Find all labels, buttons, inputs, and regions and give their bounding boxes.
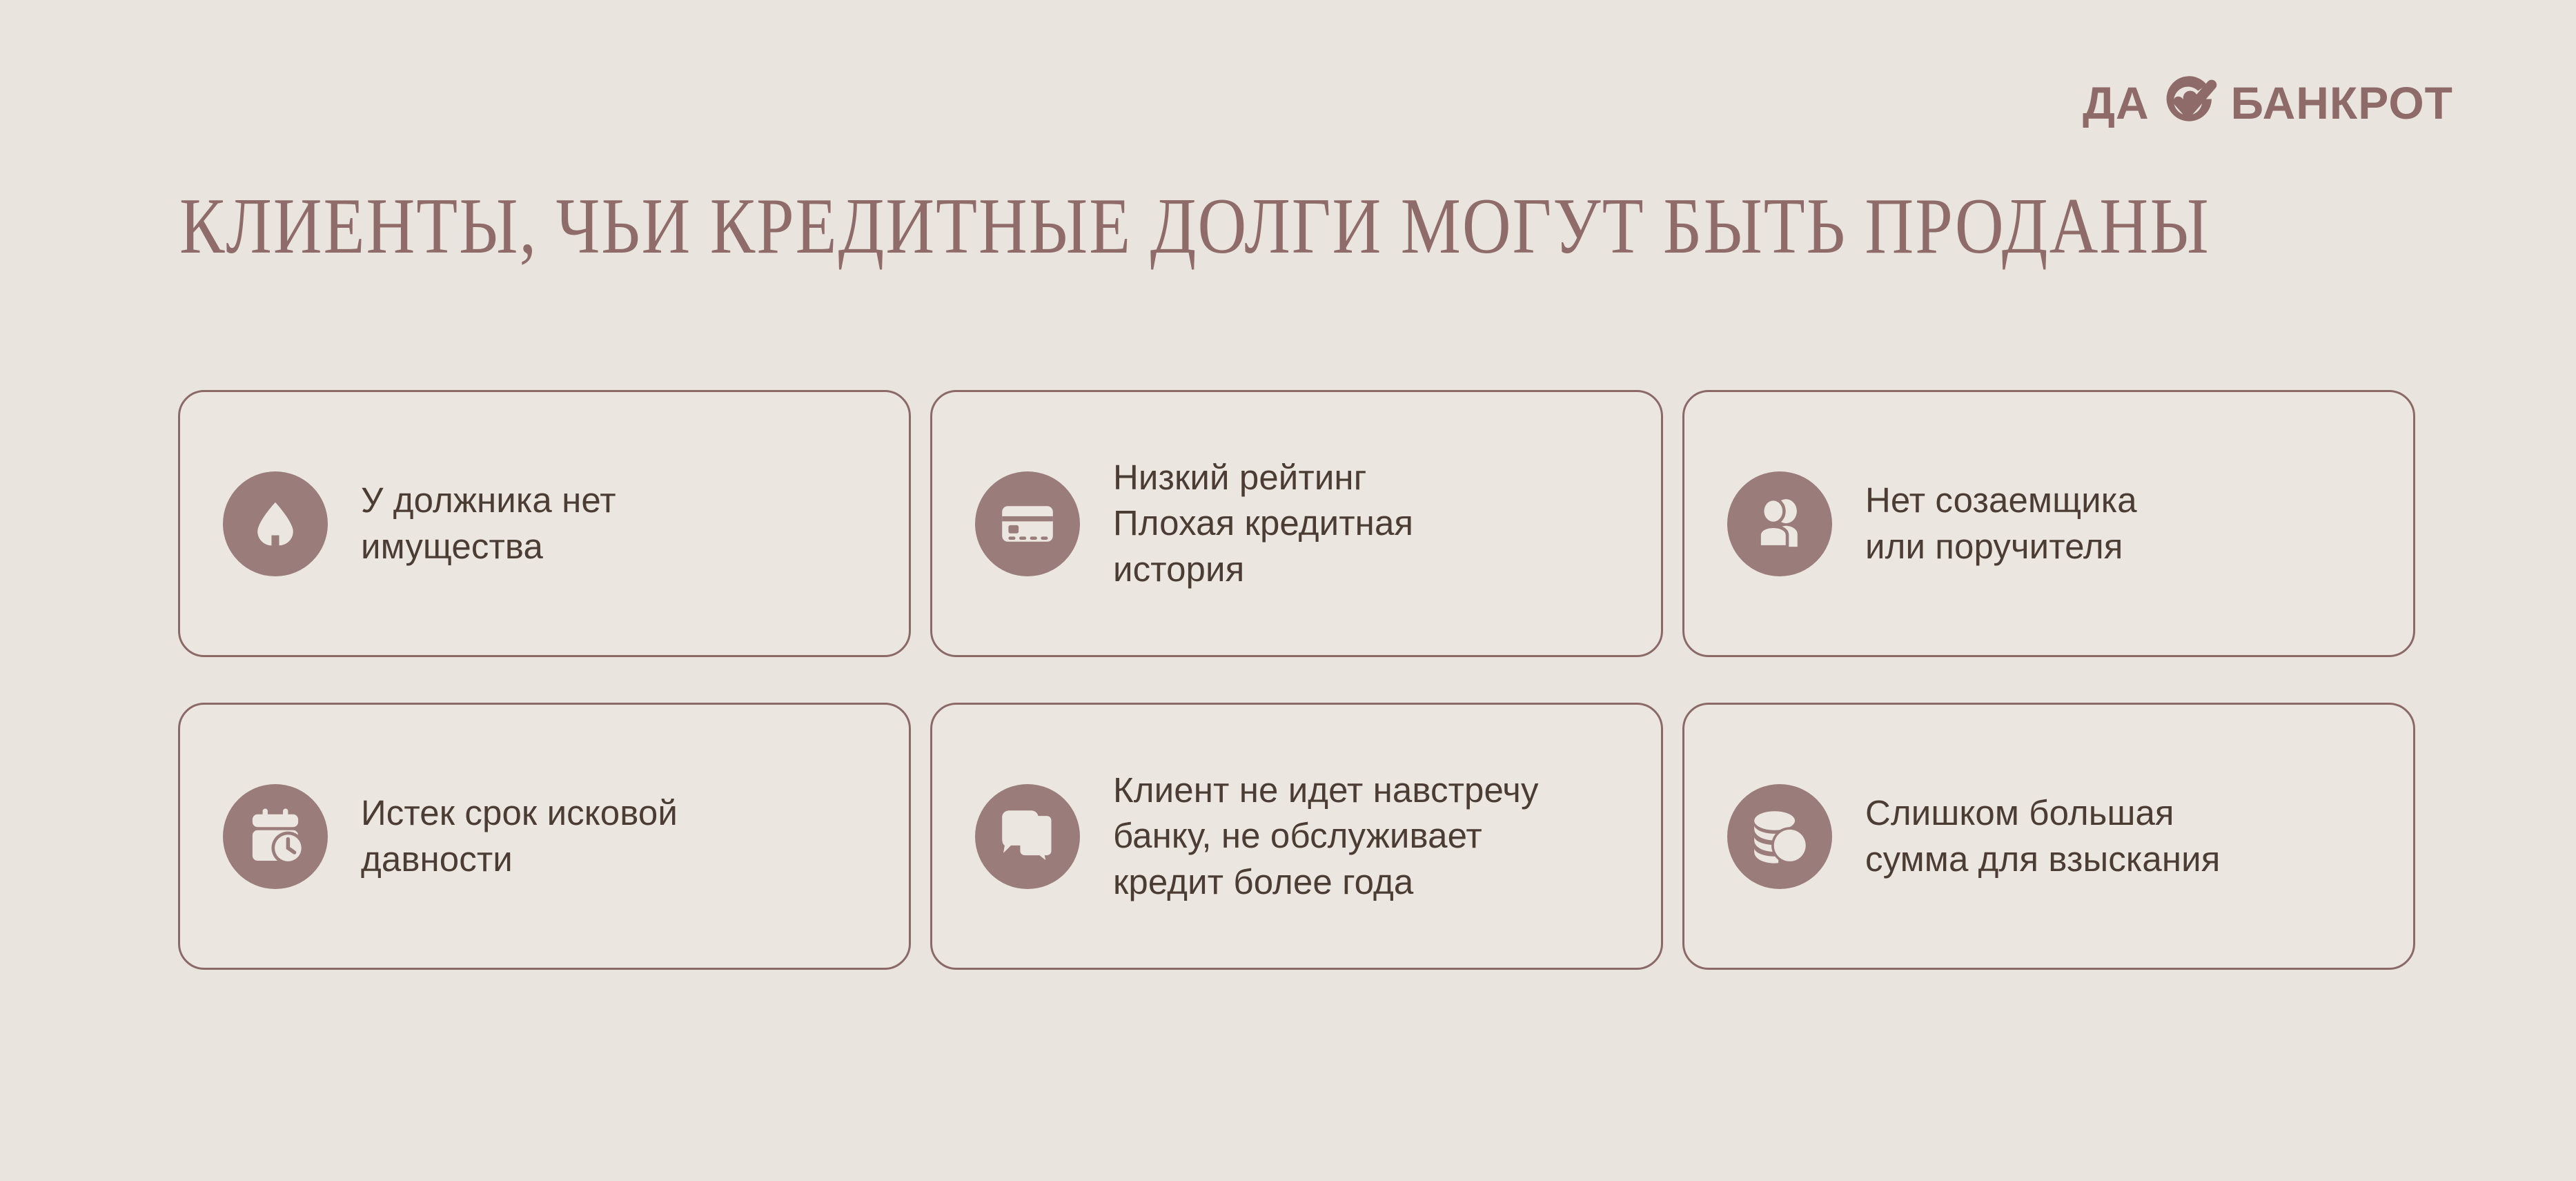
logo-word-right: БАНКРОТ — [2231, 80, 2453, 126]
slide-canvas: ДА БАНКРОТ КЛИЕНТЫ, ЧЬИ КРЕДИТНЫЕ ДОЛГИ … — [0, 0, 2576, 1181]
card-text: Слишком большая сумма для взыскания — [1865, 790, 2220, 882]
card-amount-too-large[interactable]: Слишком большая сумма для взыскания — [1682, 703, 2415, 970]
logo-word-left: ДА — [2083, 80, 2150, 126]
calendar-clock-icon — [223, 784, 328, 889]
card-statute-expired[interactable]: Истек срок исковой давности — [178, 703, 911, 970]
brand-logo: ДА БАНКРОТ — [2083, 75, 2453, 131]
card-low-rating[interactable]: Низкий рейтинг Плохая кредитная история — [930, 390, 1663, 657]
card-no-coborrower[interactable]: Нет созаемщика или поручителя — [1682, 390, 2415, 657]
card-no-property[interactable]: У должника нет имущества — [178, 390, 911, 657]
chat-bubbles-icon — [975, 784, 1080, 889]
card-text: У должника нет имущества — [361, 478, 616, 569]
coins-icon — [1727, 784, 1832, 889]
check-circle-icon — [2161, 72, 2220, 135]
cards-grid: У должника нет имущества Низкий рейтинг … — [178, 390, 2490, 970]
credit-card-icon — [975, 471, 1080, 576]
users-icon — [1727, 471, 1832, 576]
card-text: Нет созаемщика или поручителя — [1865, 478, 2137, 569]
card-text: Истек срок исковой давности — [361, 790, 678, 882]
card-uncooperative-client[interactable]: Клиент не идет навстречу банку, не обслу… — [930, 703, 1663, 970]
card-text: Клиент не идет навстречу банку, не обслу… — [1113, 768, 1539, 905]
card-text: Низкий рейтинг Плохая кредитная история — [1113, 455, 1413, 592]
page-title: КЛИЕНТЫ, ЧЬИ КРЕДИТНЫЕ ДОЛГИ МОГУТ БЫТЬ … — [179, 181, 2422, 272]
house-icon — [223, 471, 328, 576]
